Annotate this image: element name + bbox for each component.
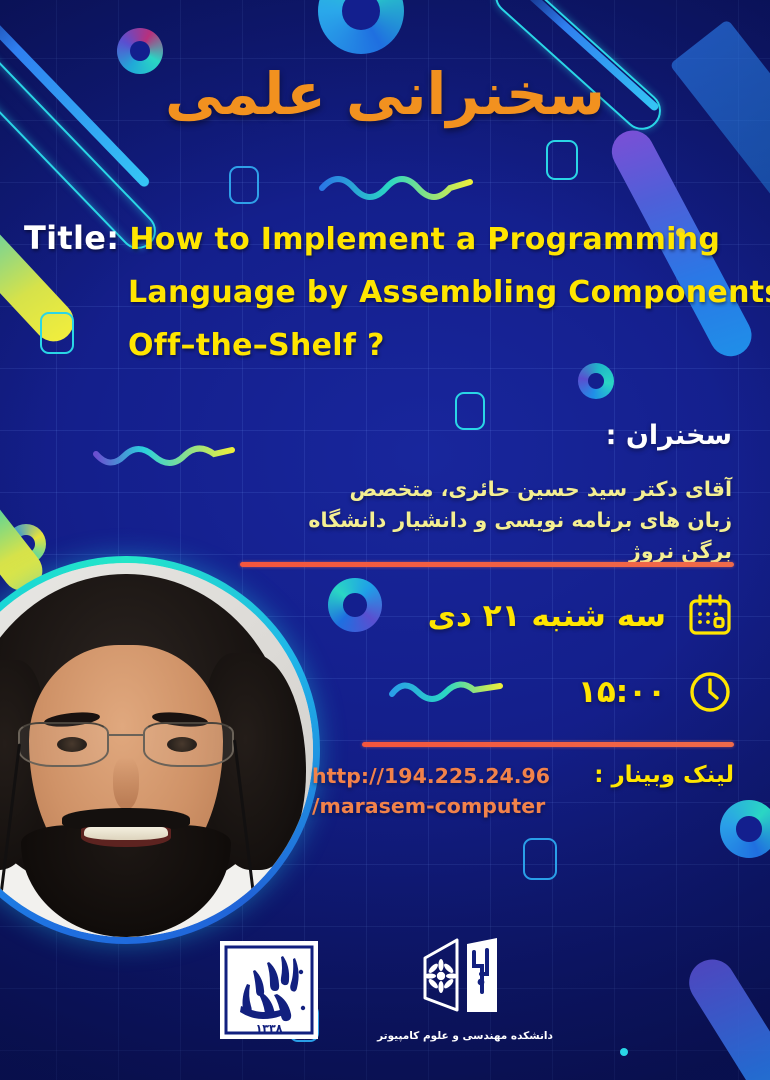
squiggle-mid [92, 440, 238, 474]
title-line-2: Language by Assembling Components [24, 278, 748, 308]
faculty-logo-mark [411, 932, 519, 1024]
webinar-url-line-2: /marasem-computer [312, 792, 602, 822]
title-label: Title: [24, 219, 119, 257]
speaker-portrait [0, 563, 313, 937]
speaker-label: سخنران : [606, 420, 732, 451]
university-logo-mark: ۱۳۳۸ [217, 938, 321, 1042]
faculty-logo: دانشکده مهندسی و علوم کامپیوتر [377, 932, 553, 1042]
divider-top [240, 562, 734, 567]
page-title: سخنرانی علمی [0, 60, 770, 128]
squiggle-low [388, 676, 508, 708]
square-outline-5 [523, 838, 557, 880]
webinar-url-line-1: http://194.225.24.96 [312, 762, 602, 792]
poster-canvas: سخنرانی علمی Title:How to Implement a Pr… [0, 0, 770, 1080]
ring-gradient-right-low [720, 800, 770, 858]
webinar-link-label: لینک وبینار : [594, 762, 734, 788]
event-date-row: سه شنبه ۲۱ دی [428, 592, 734, 640]
ring-gradient-bottomleft [6, 524, 46, 564]
university-logo-year: ۱۳۳۸ [256, 1022, 283, 1035]
talk-title-block: Title:How to Implement a Programming Lan… [24, 222, 748, 384]
event-date: سه شنبه ۲۱ دی [428, 598, 666, 634]
title-line-3: Off–the–Shelf ? [24, 331, 748, 361]
square-outline-1 [229, 166, 259, 204]
university-logo: ۱۳۳۸ [217, 938, 321, 1042]
square-outline-4 [455, 392, 485, 430]
title-line-1: Title:How to Implement a Programming [24, 222, 748, 255]
ring-blue-top [318, 0, 404, 54]
speaker-portrait-ring [0, 556, 320, 944]
divider-bottom [362, 742, 734, 747]
corner-wedge-topright [669, 19, 770, 246]
dot-cyan [620, 1048, 628, 1056]
squiggle-top [318, 168, 478, 204]
square-outline-2 [546, 140, 578, 180]
event-time: ۱۵:۰۰ [578, 674, 666, 710]
calendar-icon [686, 592, 734, 640]
webinar-link-url[interactable]: http://194.225.24.96 /marasem-computer [312, 762, 602, 821]
event-time-row: ۱۵:۰۰ [578, 668, 734, 716]
title-line-1-text: How to Implement a Programming [129, 222, 720, 257]
ring-gradient-left-mid [328, 578, 382, 632]
clock-icon [686, 668, 734, 716]
speaker-description: آقای دکتر سید حسین حائری، متخصص زبان های… [302, 474, 732, 567]
faculty-logo-caption: دانشکده مهندسی و علوم کامپیوتر [377, 1030, 553, 1042]
logos-row: دانشکده مهندسی و علوم کامپیوتر [0, 932, 770, 1042]
